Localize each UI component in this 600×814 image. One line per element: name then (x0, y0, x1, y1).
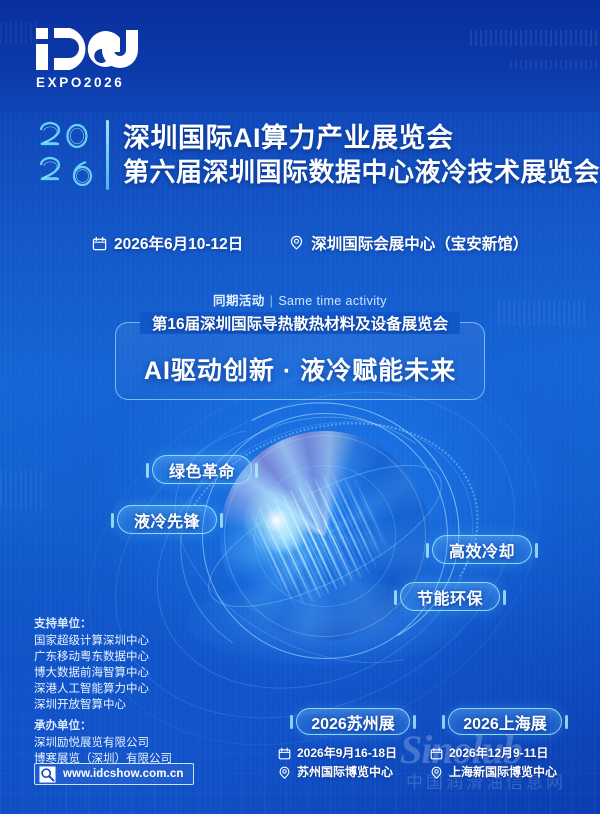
support-unit-item: 博大数据前海智算中心 (34, 665, 224, 681)
support-unit-item: 广东移动粤东数据中心 (34, 649, 224, 665)
poster-root: EXPO2026 深圳国际AI算力产业展览 (0, 0, 600, 814)
deco-bars (0, 470, 46, 510)
support-unit-item: 深圳开放智算中心 (34, 697, 224, 713)
event-card-date: 2026年9月16-18日 (278, 744, 428, 763)
support-unit-item: 深港人工智能算力中心 (34, 681, 224, 697)
organizer-unit-item: 深圳励悦展览有限公司 (34, 735, 234, 751)
same-time-separator: | (270, 294, 274, 308)
sphere-body (184, 395, 466, 677)
event-card-title: 2026上海展 (448, 708, 562, 735)
location-pin-icon (289, 235, 304, 251)
search-icon (39, 766, 56, 783)
support-units: 支持单位： 国家超级计算深圳中心 广东移动粤东数据中心 博大数据前海智算中心 深… (34, 616, 224, 713)
sphere-highlight (230, 473, 324, 567)
event-venue-text: 深圳国际会展中心（宝安新馆） (311, 232, 528, 254)
organizer-units: 承办单位： 深圳励悦展览有限公司 博寒展览（深圳）有限公司 (34, 718, 234, 767)
location-pin-icon (430, 766, 443, 780)
feature-tag-liquid-cooling-pioneer: 液冷先锋 (117, 505, 217, 534)
organizer-units-label: 承办单位： (34, 718, 234, 734)
support-units-label: 支持单位： (34, 616, 224, 632)
calendar-icon (430, 747, 443, 760)
title-row: 深圳国际AI算力产业展览会 第六届深圳国际数据中心液冷技术展览会 (36, 118, 600, 192)
feature-tag-efficient-cooling: 高效冷却 (432, 535, 532, 564)
year-2026-graphic (36, 118, 98, 192)
same-time-activity: 同期活动|Same time activity (0, 290, 600, 309)
event-card-suzhou[interactable]: 2026苏州展 2026年9月16-18日 苏州国际博览中心 (278, 708, 428, 782)
event-card-title: 2026苏州展 (296, 708, 410, 735)
page-title: 深圳国际AI算力产业展览会 (123, 122, 600, 154)
logo-subtitle: EXPO2026 (34, 75, 164, 90)
event-meta: 2026年6月10-12日 深圳国际会展中心（宝安新馆） (92, 232, 528, 254)
calendar-icon (278, 747, 291, 760)
event-card-venue: 苏州国际博览中心 (278, 763, 428, 782)
website-url: www.idcshow.com.cn (63, 768, 183, 780)
event-card-date: 2026年12月9-11日 (430, 744, 580, 763)
event-card-shanghai[interactable]: 2026上海展 2026年12月9-11日 上海新国际博览中心 (430, 708, 580, 782)
co-event-title: 第16届深圳国际导热散热材料及设备展览会 (140, 312, 460, 334)
event-date: 2026年6月10-12日 (92, 232, 243, 254)
calendar-icon (92, 236, 107, 251)
event-card-date-text: 2026年12月9-11日 (449, 744, 548, 763)
slogan-box: 第16届深圳国际导热散热材料及设备展览会 AI驱动创新 · 液冷赋能未来 (115, 322, 485, 400)
brand-logo: EXPO2026 (34, 26, 164, 90)
support-unit-item: 国家超级计算深圳中心 (34, 633, 224, 649)
location-pin-icon (278, 766, 291, 780)
same-time-cn: 同期活动 (213, 294, 265, 308)
feature-tag-green-revolution: 绿色革命 (152, 455, 252, 484)
website-link[interactable]: www.idcshow.com.cn (34, 763, 194, 785)
feature-tag-energy-saving: 节能环保 (400, 582, 500, 611)
sphere-ring-mid (189, 400, 461, 672)
idc-logo-icon (34, 26, 140, 72)
event-card-venue-text: 苏州国际博览中心 (297, 763, 393, 782)
same-time-en: Same time activity (278, 294, 387, 308)
event-card-date-text: 2026年9月16-18日 (297, 744, 397, 763)
event-card-venue-text: 上海新国际博览中心 (449, 763, 557, 782)
event-date-text: 2026年6月10-12日 (114, 232, 243, 254)
sphere-ring-inner (230, 441, 421, 632)
event-card-venue: 上海新国际博览中心 (430, 763, 580, 782)
event-venue: 深圳国际会展中心（宝安新馆） (289, 232, 528, 254)
slogan-text: AI驱动创新 · 液冷赋能未来 (116, 351, 484, 387)
sphere-data-lines (241, 460, 398, 612)
title-divider (106, 120, 109, 190)
page-subtitle: 第六届深圳国际数据中心液冷技术展览会 (123, 157, 600, 188)
